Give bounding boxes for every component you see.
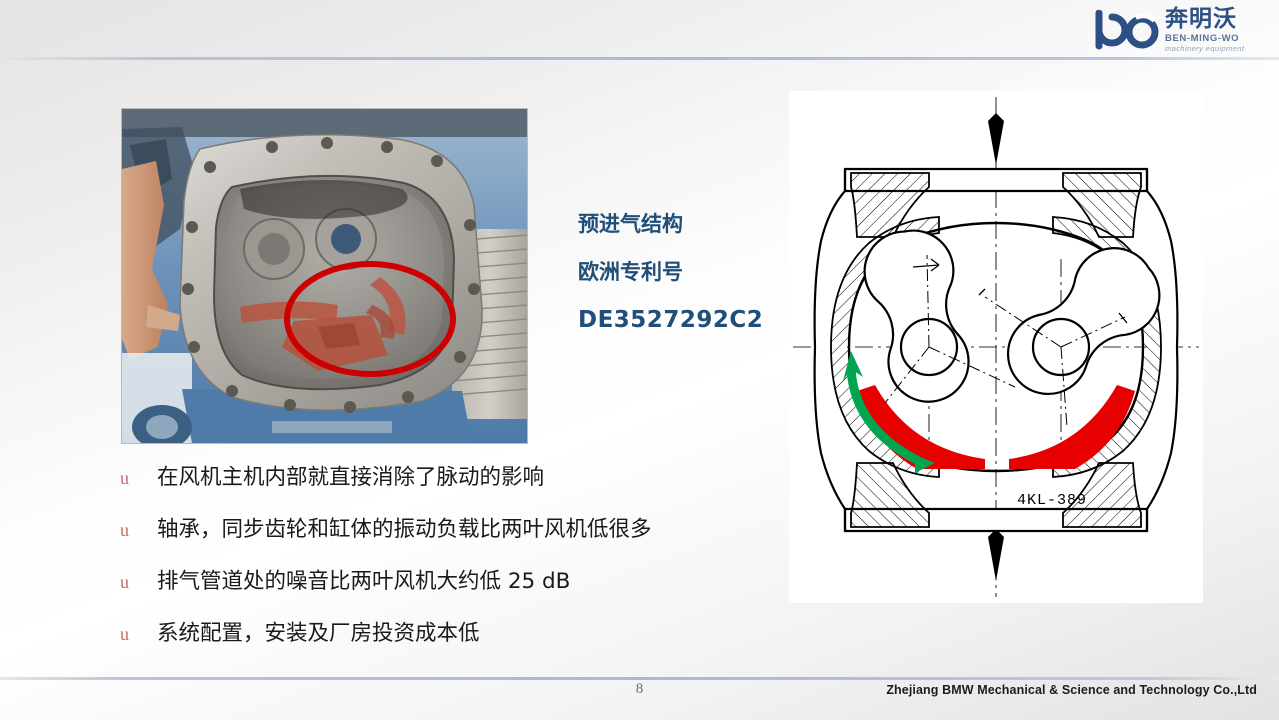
blower-cross-section-diagram: 4KL-389 bbox=[789, 91, 1203, 603]
diagram-drawing: 4KL-389 bbox=[789, 91, 1203, 603]
bullet-marker-icon: u bbox=[120, 624, 157, 645]
bullet-text: 系统配置，安装及厂房投资成本低 bbox=[157, 616, 480, 647]
bullet-text: 轴承，同步齿轮和缸体的振动负载比两叶风机低很多 bbox=[157, 512, 652, 543]
bullet-list: u 在风机主机内部就直接消除了脉动的影响 u 轴承，同步齿轮和缸体的振动负载比两… bbox=[120, 460, 780, 668]
bullet-text: 在风机主机内部就直接消除了脉动的影响 bbox=[157, 460, 544, 491]
footer-company-name: Zhejiang BMW Mechanical & Science and Te… bbox=[886, 683, 1257, 697]
page-title: 预进气结构 欧洲专利号 DE3527292C2 bbox=[578, 200, 818, 344]
logo-tagline: machinery equipment bbox=[1165, 45, 1244, 53]
bo-monogram-icon bbox=[1095, 10, 1161, 50]
bullet-text: 排气管道处的噪音比两叶风机大约低 25 dB bbox=[157, 564, 570, 595]
slide: 奔明沃 BEN-MING-WO machinery equipment bbox=[0, 0, 1279, 720]
logo-romanized-name: BEN-MING-WO bbox=[1165, 34, 1244, 44]
footer-divider bbox=[0, 677, 1279, 680]
header-divider bbox=[0, 57, 1279, 60]
list-item: u 系统配置，安装及厂房投资成本低 bbox=[120, 616, 780, 668]
headline-line-1: 预进气结构 bbox=[578, 200, 818, 248]
list-item: u 排气管道处的噪音比两叶风机大约低 25 dB bbox=[120, 564, 780, 616]
blower-casing-photo bbox=[121, 108, 528, 444]
drawing-label: 4KL-389 bbox=[1017, 492, 1087, 509]
company-logo: 奔明沃 BEN-MING-WO machinery equipment bbox=[1095, 4, 1267, 56]
logo-chinese-name: 奔明沃 bbox=[1165, 8, 1244, 31]
bullet-marker-icon: u bbox=[120, 468, 157, 489]
logo-text-block: 奔明沃 BEN-MING-WO machinery equipment bbox=[1165, 8, 1244, 53]
bullet-marker-icon: u bbox=[120, 572, 157, 593]
photo-content bbox=[122, 109, 527, 443]
headline-patent-number: DE3527292C2 bbox=[578, 296, 818, 344]
headline-line-2: 欧洲专利号 bbox=[578, 248, 818, 296]
bullet-marker-icon: u bbox=[120, 520, 157, 541]
list-item: u 轴承，同步齿轮和缸体的振动负载比两叶风机低很多 bbox=[120, 512, 780, 564]
list-item: u 在风机主机内部就直接消除了脉动的影响 bbox=[120, 460, 780, 512]
